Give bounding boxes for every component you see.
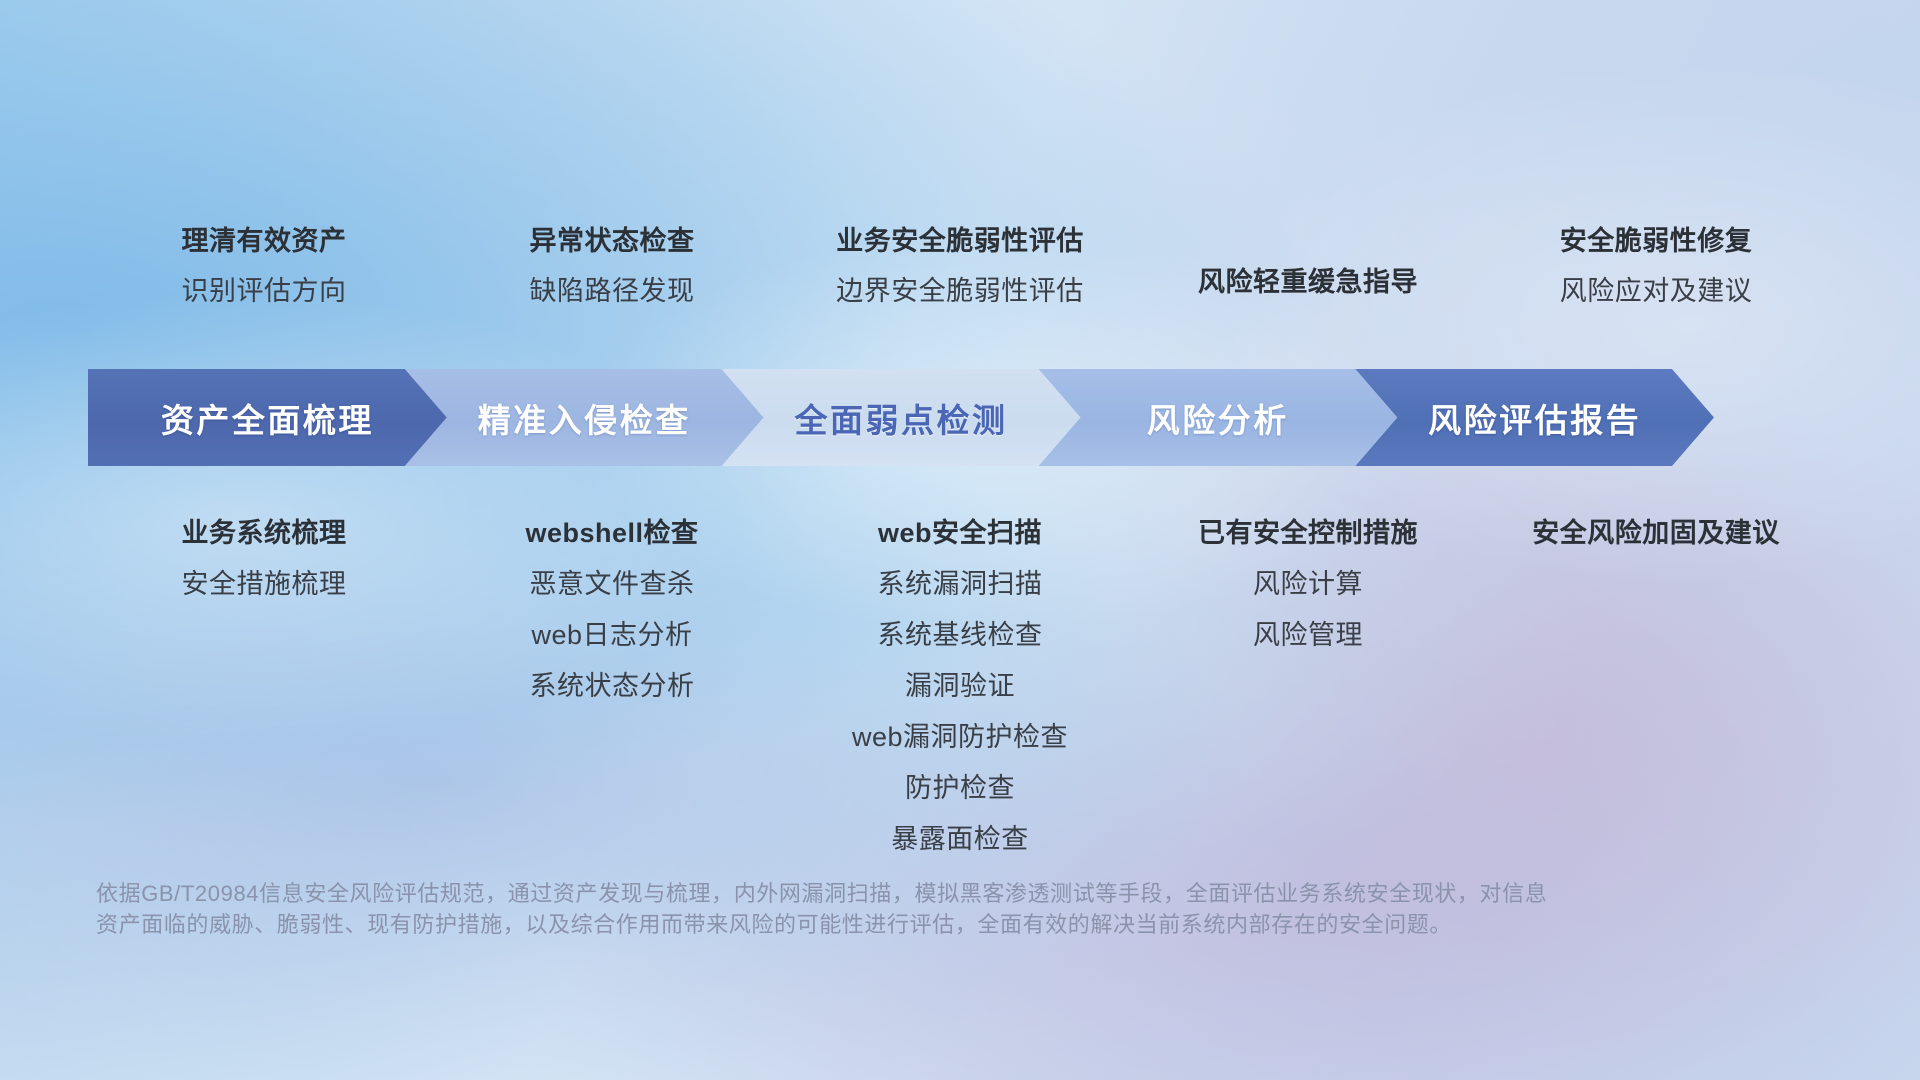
output-label-item: 安全措施梳理 bbox=[182, 571, 347, 598]
output-label-item: 已有安全控制措施 bbox=[1198, 520, 1418, 547]
output-label-item: 风险计算 bbox=[1253, 571, 1363, 598]
input-label-item: 理清有效资产 bbox=[182, 228, 347, 255]
input-label-column-5: 安全脆弱性修复风险应对及建议 bbox=[1482, 228, 1830, 328]
output-label-item: web安全扫描 bbox=[878, 520, 1042, 547]
input-label-column-2: 异常状态检查缺陷路径发现 bbox=[438, 228, 786, 328]
output-label-item: 恶意文件查杀 bbox=[530, 571, 695, 598]
input-label-column-3: 业务安全脆弱性评估边界安全脆弱性评估 bbox=[786, 228, 1134, 328]
footer-line-2: 资产面临的威胁、脆弱性、现有防护措施，以及综合作用而带来风险的可能性进行评估，全… bbox=[96, 909, 1656, 940]
output-label-item: 业务系统梳理 bbox=[182, 520, 347, 547]
process-stage-2[interactable]: 精准入侵检查 bbox=[405, 369, 764, 466]
stage-label: 精准入侵检查 bbox=[478, 394, 691, 442]
stage-label: 风险分析 bbox=[1147, 394, 1289, 442]
input-label-item: 边界安全脆弱性评估 bbox=[836, 278, 1084, 305]
output-label-item: web漏洞防护检查 bbox=[852, 724, 1068, 751]
input-label-item: 缺陷路径发现 bbox=[530, 278, 695, 305]
input-label-item: 识别评估方向 bbox=[182, 278, 347, 305]
input-label-item: 风险轻重缓急指导 bbox=[1198, 269, 1418, 296]
input-label-item: 业务安全脆弱性评估 bbox=[836, 228, 1084, 255]
output-label-column-5: 安全风险加固及建议 bbox=[1482, 520, 1830, 877]
output-label-item: web日志分析 bbox=[531, 622, 692, 649]
input-label-item: 风险应对及建议 bbox=[1560, 278, 1753, 305]
input-label-column-4: 风险轻重缓急指导 bbox=[1134, 228, 1482, 328]
risk-assessment-process-diagram: 理清有效资产识别评估方向异常状态检查缺陷路径发现业务安全脆弱性评估边界安全脆弱性… bbox=[0, 0, 1920, 1080]
output-label-item: 风险管理 bbox=[1253, 622, 1363, 649]
output-label-column-2: webshell检查恶意文件查杀web日志分析系统状态分析 bbox=[438, 520, 786, 877]
output-label-item: 系统漏洞扫描 bbox=[878, 571, 1043, 598]
output-label-item: 暴露面检查 bbox=[891, 826, 1029, 853]
input-label-item: 异常状态检查 bbox=[530, 228, 695, 255]
output-labels-row: 业务系统梳理安全措施梳理webshell检查恶意文件查杀web日志分析系统状态分… bbox=[90, 520, 1830, 877]
output-label-item: 系统基线检查 bbox=[878, 622, 1043, 649]
stage-label: 全面弱点检测 bbox=[794, 394, 1007, 442]
output-label-column-3: web安全扫描系统漏洞扫描系统基线检查漏洞验证web漏洞防护检查防护检查暴露面检… bbox=[786, 520, 1134, 877]
process-chevron-band: 资产全面梳理精准入侵检查全面弱点检测风险分析风险评估报告 bbox=[88, 369, 1840, 466]
output-label-item: 安全风险加固及建议 bbox=[1532, 520, 1780, 547]
output-label-item: 系统状态分析 bbox=[530, 673, 695, 700]
footer-description: 依据GB/T20984信息安全风险评估规范，通过资产发现与梳理，内外网漏洞扫描，… bbox=[96, 878, 1656, 940]
output-label-column-1: 业务系统梳理安全措施梳理 bbox=[90, 520, 438, 877]
footer-line-1: 依据GB/T20984信息安全风险评估规范，通过资产发现与梳理，内外网漏洞扫描，… bbox=[96, 878, 1656, 909]
output-label-item: 防护检查 bbox=[905, 775, 1015, 802]
process-stage-3[interactable]: 全面弱点检测 bbox=[722, 369, 1081, 466]
stage-label: 资产全面梳理 bbox=[161, 394, 374, 442]
input-labels-row: 理清有效资产识别评估方向异常状态检查缺陷路径发现业务安全脆弱性评估边界安全脆弱性… bbox=[90, 228, 1830, 328]
process-stage-5[interactable]: 风险评估报告 bbox=[1355, 369, 1714, 466]
output-label-column-4: 已有安全控制措施风险计算风险管理 bbox=[1134, 520, 1482, 877]
input-label-column-1: 理清有效资产识别评估方向 bbox=[90, 228, 438, 328]
output-label-item: 漏洞验证 bbox=[905, 673, 1015, 700]
process-stage-4[interactable]: 风险分析 bbox=[1038, 369, 1397, 466]
process-stage-1[interactable]: 资产全面梳理 bbox=[88, 369, 447, 466]
stage-label: 风险评估报告 bbox=[1428, 394, 1641, 442]
output-label-item: webshell检查 bbox=[525, 520, 698, 547]
input-label-item: 安全脆弱性修复 bbox=[1560, 228, 1753, 255]
